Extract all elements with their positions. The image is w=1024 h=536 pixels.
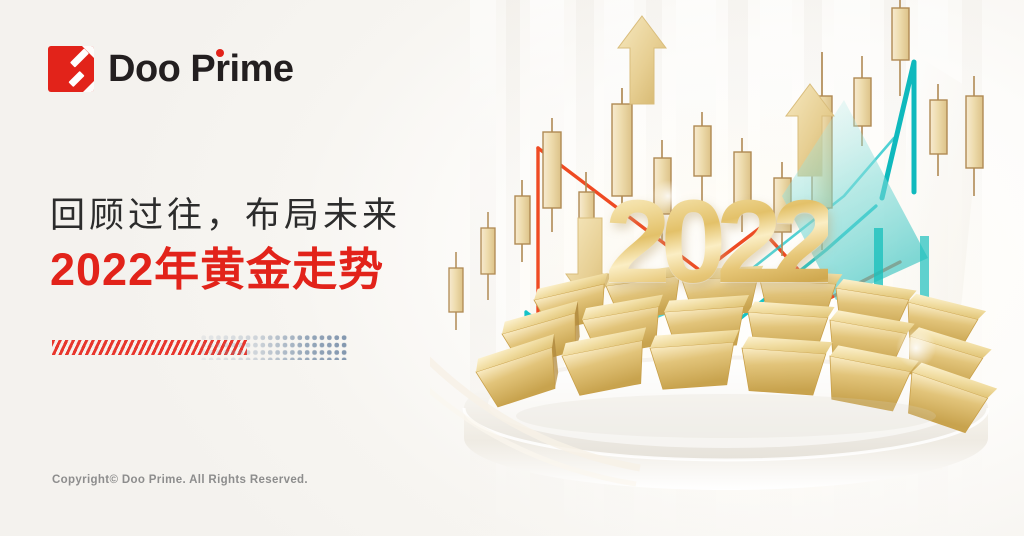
copyright-text: Copyright© Doo Prime. All Rights Reserve… xyxy=(52,474,308,486)
brand-wordmark: Doo Prime xyxy=(108,50,294,88)
sparkle-icon xyxy=(896,328,936,368)
dot-grid xyxy=(200,334,348,360)
logo-i-dot-icon xyxy=(216,49,224,57)
headline-block: 回顾过往，布局未来 2022年黄金走势 xyxy=(50,196,401,296)
gold-up-arrow xyxy=(618,16,834,176)
banner-root: 2022 Doo Prime 回顾过往，布局未来 2022年黄金走势 Copyr… xyxy=(0,0,1024,536)
gold-numerals-2022: 2022 xyxy=(605,183,828,301)
main-headline: 2022年黄金走势 xyxy=(50,245,401,295)
decorative-band xyxy=(52,334,342,360)
sub-headline: 回顾过往，布局未来 xyxy=(50,196,401,236)
bar-stack-shadow xyxy=(516,394,936,438)
hero-artwork: 2022 xyxy=(430,0,1024,536)
doo-prime-logo-mark-icon xyxy=(48,46,94,92)
brand-logo[interactable]: Doo Prime xyxy=(48,46,294,92)
brand-wordmark-text: Doo Prime xyxy=(108,48,294,90)
